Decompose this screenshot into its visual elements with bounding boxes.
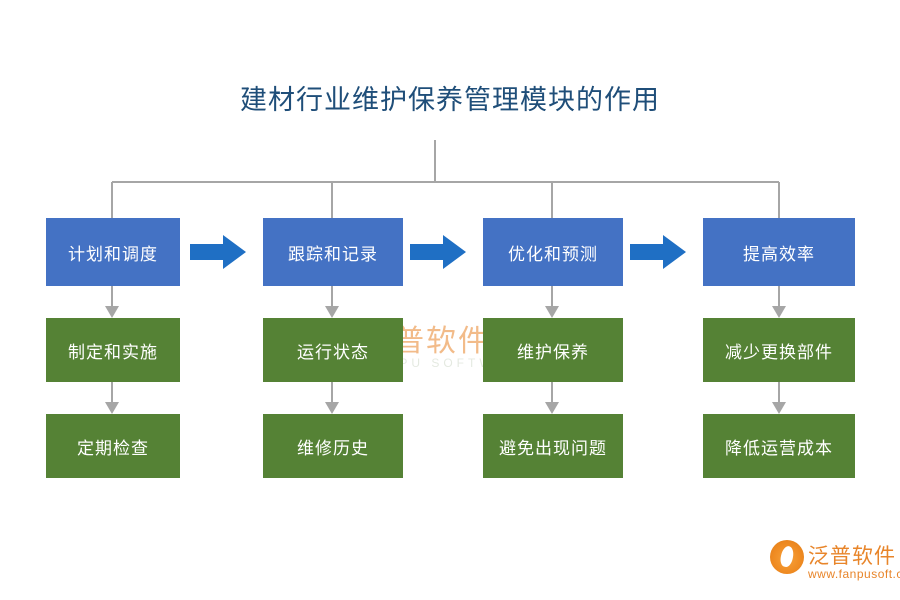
item-box-2-1[interactable]: 运行状态 (263, 318, 403, 382)
flow-arrow-3 (630, 233, 686, 271)
flow-arrow-2 (410, 233, 466, 271)
diagram-canvas: 建材行业维护保养管理模块的作用 泛普软件 FANPU SOFTWARE (0, 0, 900, 600)
brand-logo: 泛普软件 www.fanpusoft.com (770, 540, 890, 588)
item-box-1-1[interactable]: 制定和实施 (46, 318, 180, 382)
page-title: 建材行业维护保养管理模块的作用 (0, 78, 900, 117)
flame-icon (770, 540, 804, 574)
head-box-4[interactable]: 提高效率 (703, 218, 855, 286)
item-box-3-1[interactable]: 维护保养 (483, 318, 623, 382)
head-box-1[interactable]: 计划和调度 (46, 218, 180, 286)
item-box-2-2[interactable]: 维修历史 (263, 414, 403, 478)
item-box-1-2[interactable]: 定期检查 (46, 414, 180, 478)
head-box-3[interactable]: 优化和预测 (483, 218, 623, 286)
flow-arrow-1 (190, 233, 246, 271)
item-box-3-2[interactable]: 避免出现问题 (483, 414, 623, 478)
item-box-4-2[interactable]: 降低运营成本 (703, 414, 855, 478)
brand-name: 泛普软件 (808, 540, 896, 570)
item-box-4-1[interactable]: 减少更换部件 (703, 318, 855, 382)
head-box-2[interactable]: 跟踪和记录 (263, 218, 403, 286)
brand-url: www.fanpusoft.com (808, 567, 900, 581)
